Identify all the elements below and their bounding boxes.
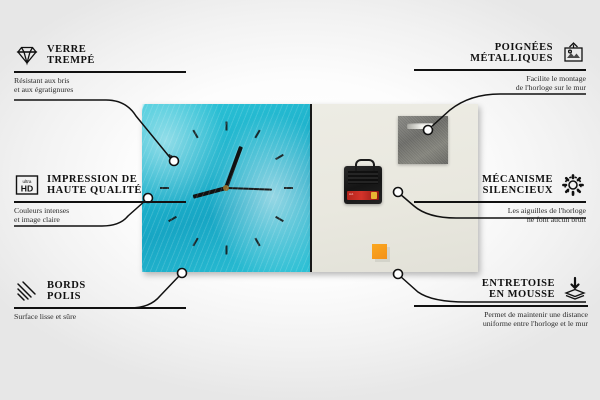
divider (414, 305, 588, 307)
clock-minute-hand (224, 146, 243, 189)
feature-title: IMPRESSION DE HAUTE QUALITÉ (47, 174, 142, 197)
svg-text:HD: HD (21, 184, 33, 194)
divider (14, 307, 186, 309)
feature-description: Permet de maintenir une distance uniform… (414, 310, 588, 329)
metal-hanger-plate (398, 116, 448, 164)
clock-tick (192, 130, 198, 139)
mechanism-vents (348, 171, 378, 184)
feature-description: Les aiguilles de l'horloge ne font aucun… (414, 206, 586, 225)
clock-tick (254, 237, 260, 246)
feature-title: MÉCANISME SILENCIEUX (482, 174, 553, 197)
foam-spacer-square (372, 244, 387, 259)
divider (414, 69, 586, 71)
clock-hour-hand (193, 186, 227, 199)
feature-impression-haute-qualite: ultra HD IMPRESSION DE HAUTE QUALITÉ Cou… (14, 172, 186, 224)
divider (14, 201, 186, 203)
infographic-canvas: AA (0, 0, 600, 400)
feature-bords-polis: BORDS POLIS Surface lisse et sûre (14, 278, 186, 321)
ultra-hd-icon: ultra HD (14, 172, 40, 198)
feature-title: ENTRETOISE EN MOUSSE (482, 278, 555, 301)
battery-positive-terminal (371, 192, 377, 199)
gear-icon (560, 172, 586, 198)
divider (414, 201, 586, 203)
feature-heading: ENTRETOISE EN MOUSSE (414, 276, 588, 302)
polished-edges-icon (14, 278, 40, 304)
mechanism-hanging-loop (355, 159, 375, 171)
divider (14, 71, 186, 73)
feature-heading: ultra HD IMPRESSION DE HAUTE QUALITÉ (14, 172, 186, 198)
clock-tick (254, 130, 260, 139)
feature-description: Résistant aux bris et aux égratignures (14, 76, 186, 95)
clock-second-hand (226, 187, 272, 190)
feature-mecanisme-silencieux: MÉCANISME SILENCIEUX Les aiguilles de l'… (414, 172, 586, 224)
diamond-icon (14, 42, 40, 68)
feature-title: POIGNÉES MÉTALLIQUES (470, 42, 553, 65)
feature-heading: POIGNÉES MÉTALLIQUES (414, 40, 586, 66)
clock-center-cap (223, 185, 229, 191)
feature-verre-trempe: VERRE TREMPÉ Résistant aux bris et aux é… (14, 42, 186, 94)
feature-heading: BORDS POLIS (14, 278, 186, 304)
battery: AA (347, 191, 379, 200)
picture-frame-hanger-icon (560, 40, 586, 66)
feature-entretoise-en-mousse: ENTRETOISE EN MOUSSE Permet de maintenir… (414, 276, 588, 328)
clock-tick (225, 122, 227, 131)
clock-tick (192, 237, 198, 246)
feature-title: VERRE TREMPÉ (47, 44, 95, 67)
clock-tick (225, 246, 227, 255)
clock-tick (168, 154, 177, 160)
clock-tick (275, 154, 284, 160)
hanger-slot (407, 123, 433, 129)
feature-description: Couleurs intenses et image claire (14, 206, 186, 225)
clock-tick (284, 187, 293, 189)
feature-heading: VERRE TREMPÉ (14, 42, 186, 68)
feature-description: Surface lisse et sûre (14, 312, 186, 321)
feature-poignees-metalliques: POIGNÉES MÉTALLIQUES Facilite le montage… (414, 40, 586, 92)
feature-title: BORDS POLIS (47, 280, 86, 303)
feature-heading: MÉCANISME SILENCIEUX (414, 172, 586, 198)
clock-mechanism-box: AA (344, 166, 382, 204)
foam-spacer-arrow-icon (562, 276, 588, 302)
feature-description: Facilite le montage de l'horloge sur le … (414, 74, 586, 93)
clock-tick (275, 216, 284, 222)
battery-label: AA (349, 192, 354, 196)
